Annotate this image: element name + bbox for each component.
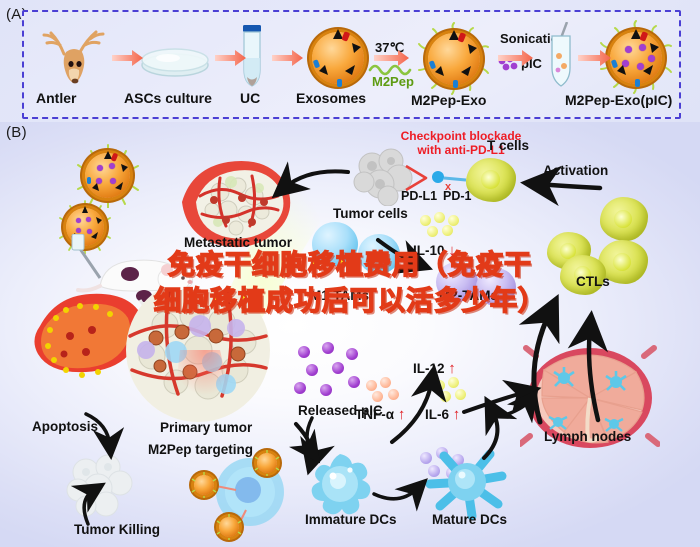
pathway-arrows [0, 122, 700, 547]
panel-a: (A) Antler ASCs [0, 0, 700, 122]
process-arrows [0, 0, 700, 122]
panel-b: (B) [0, 122, 700, 547]
figure-canvas: (A) Antler ASCs [0, 0, 700, 547]
